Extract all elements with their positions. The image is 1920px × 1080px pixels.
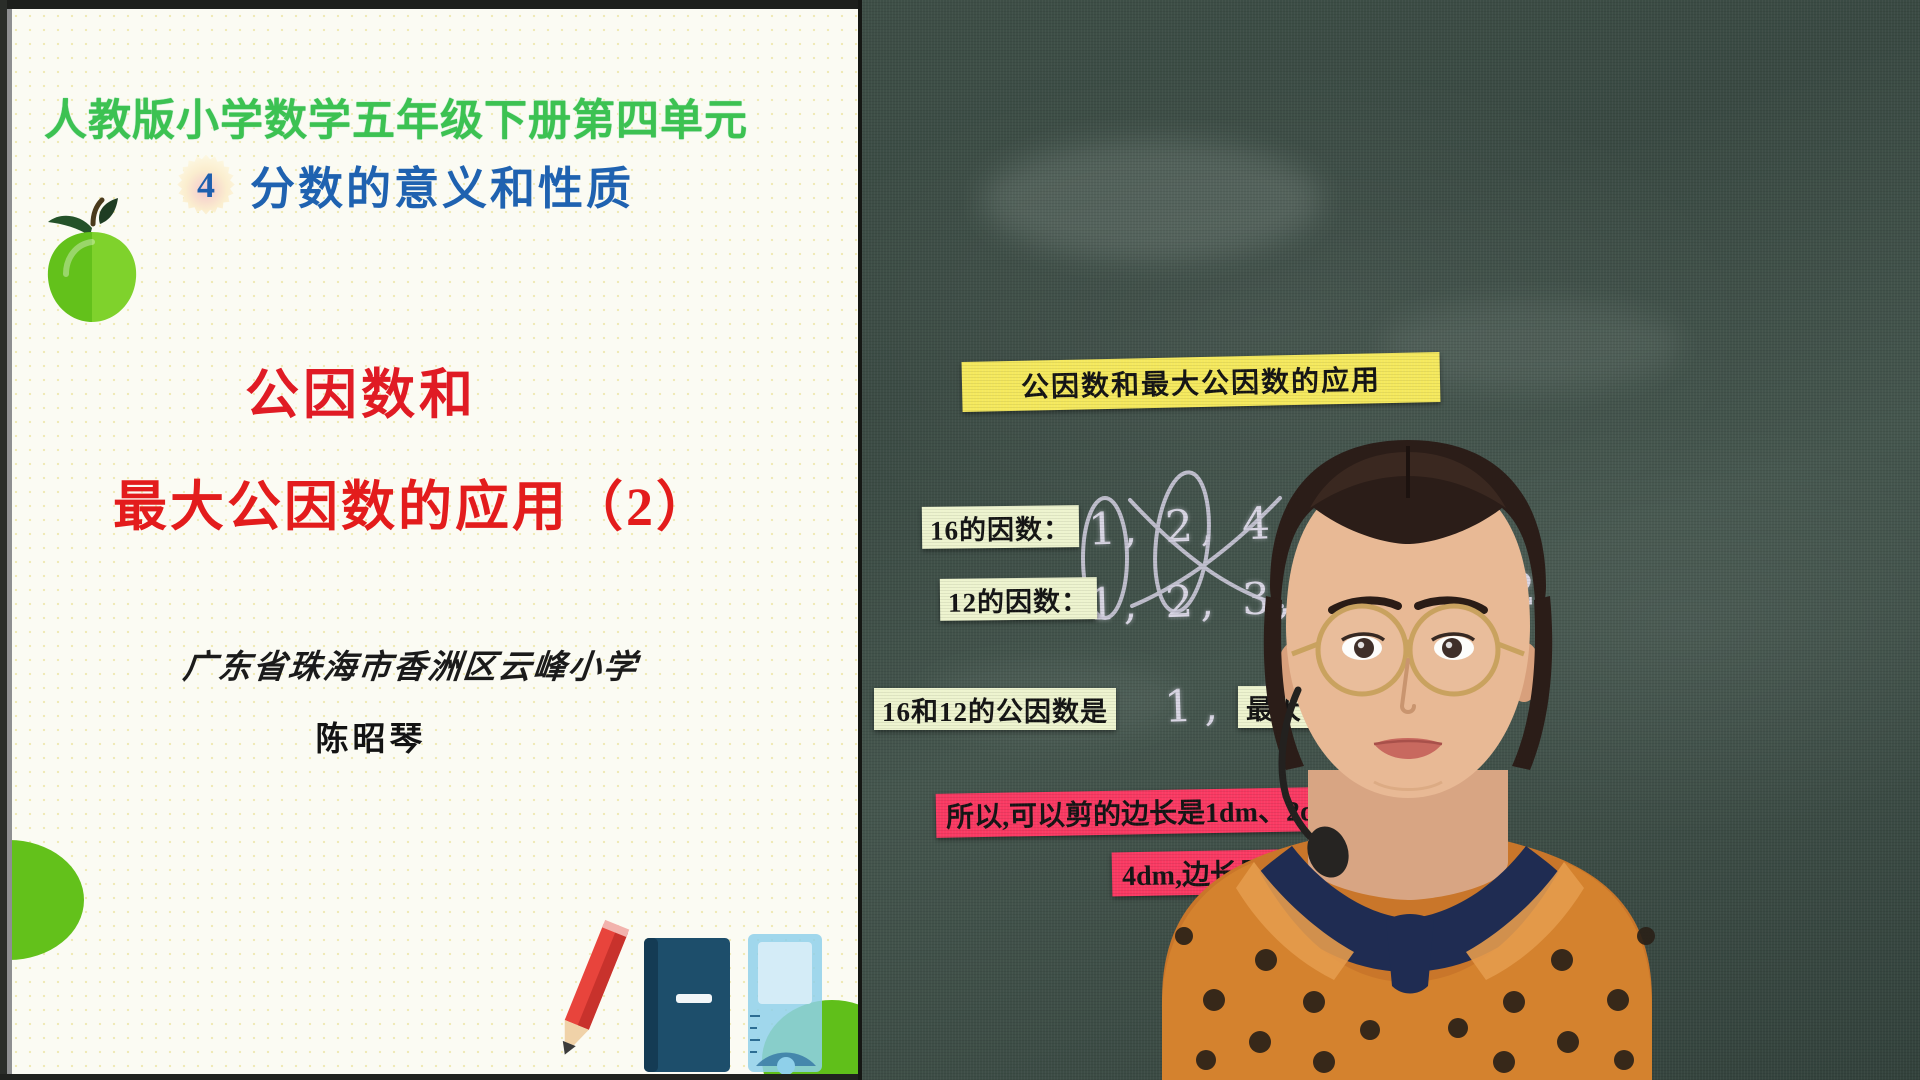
- unit-title: 分数的意义和性质: [250, 152, 634, 217]
- blackboard: 1, 2, 4, 8, 16 1, 2, 3, 4, 6, 12 1, 2, 4…: [862, 0, 1920, 1080]
- starburst-badge-icon: 4: [176, 155, 236, 215]
- board-banner-title: 公因数和最大公因数的应用: [962, 352, 1441, 412]
- label-greatest-common-factor: 最大公因数是: [1238, 686, 1422, 728]
- school-name: 广东省珠海市香洲区云峰小学: [0, 640, 845, 688]
- label-factors-16: 16的因数：: [922, 505, 1079, 549]
- label-common-factors: 16和12的公因数是: [874, 688, 1116, 730]
- slide-edge-left: [0, 0, 7, 1080]
- presentation-slide: 人教版小学数学五年级下册第四单元 4 分数的意义和性质 公因数和 最大公因数的应…: [0, 0, 862, 1080]
- chalk-smudge: [982, 140, 1322, 260]
- notebook-icon: [644, 938, 730, 1072]
- slide-edge-left-inner: [7, 9, 12, 1080]
- unit-number: 4: [197, 164, 215, 206]
- decorative-green-blob-left: [0, 840, 84, 960]
- conclusion-strip-line-2: 4dm,边长最大是4dm.: [1112, 848, 1393, 897]
- slide-edge-top: [0, 0, 862, 9]
- teacher-name: 陈昭琴: [0, 712, 802, 760]
- conclusion-strip-line-1: 所以,可以剪的边长是1dm、2dm、: [936, 786, 1377, 838]
- stationery-illustration: [476, 916, 856, 1076]
- slide-edge-bottom: [0, 1074, 862, 1080]
- pencil-icon: [553, 920, 630, 1060]
- lesson-video-frame: 人教版小学数学五年级下册第四单元 4 分数的意义和性质 公因数和 最大公因数的应…: [0, 0, 1920, 1080]
- handwritten-factors-16: 1, 2, 4, 8, 16: [1087, 491, 1466, 555]
- slide-title-line-1: 公因数和: [0, 350, 792, 429]
- slide-header-line: 人教版小学数学五年级下册第四单元: [44, 86, 824, 148]
- apple-icon: [30, 190, 160, 330]
- handwritten-gcd: 4: [1427, 671, 1464, 723]
- slide-title-line-2: 最大公因数的应用（2）: [0, 462, 844, 541]
- label-factors-12: 12的因数：: [940, 577, 1097, 621]
- unit-heading-row: 4 分数的意义和性质: [176, 152, 634, 217]
- ruler-icon: [748, 934, 822, 1075]
- handwritten-factors-12: 1, 2, 3, 4, 6, 12: [1087, 564, 1543, 631]
